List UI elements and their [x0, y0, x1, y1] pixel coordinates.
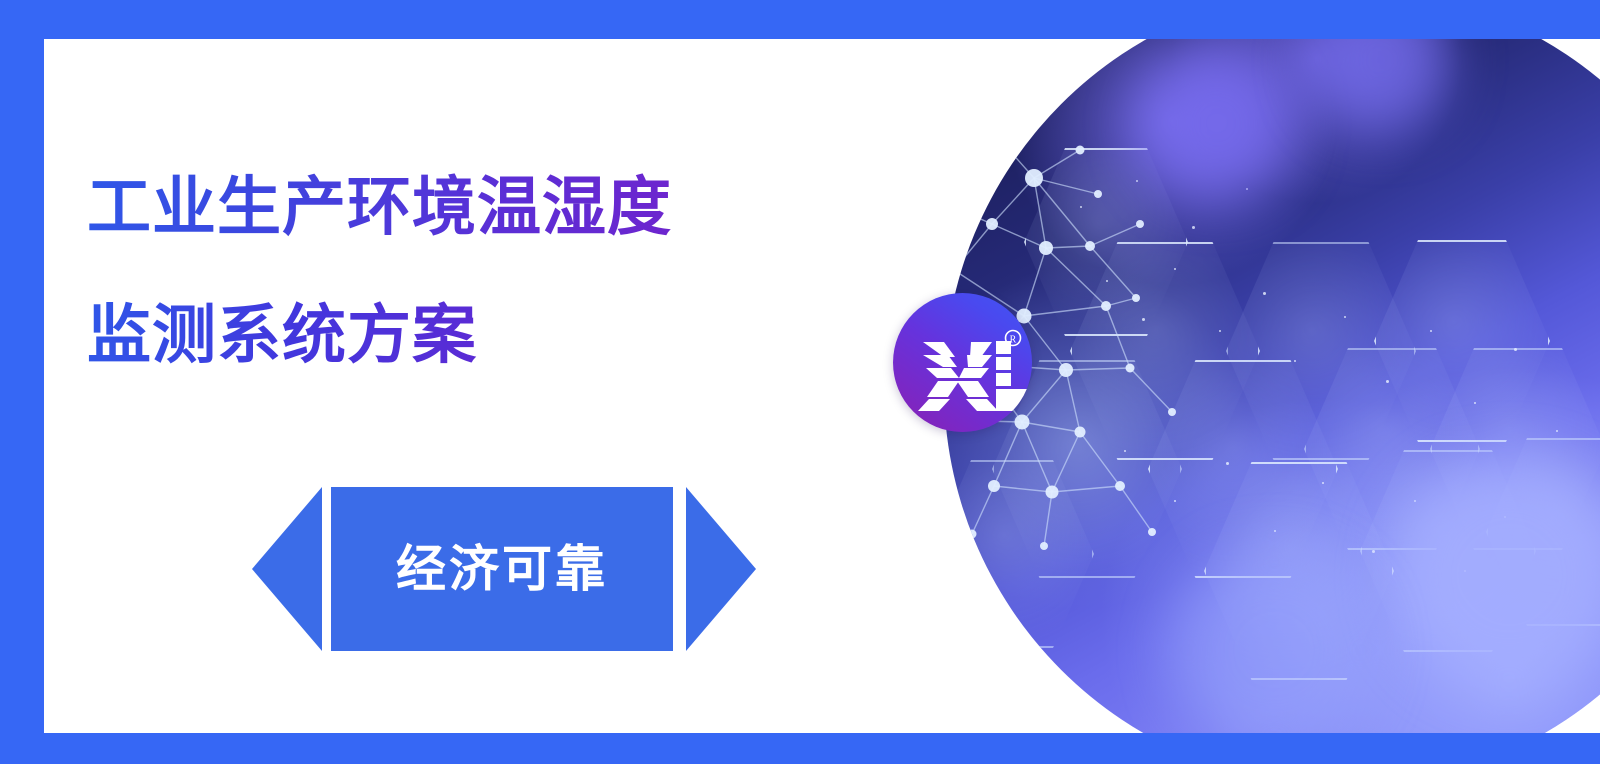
svg-text:R: R	[1010, 335, 1017, 346]
headline-line-2: 监测系统方案	[87, 271, 787, 399]
headline-block: 工业生产环境温湿度 监测系统方案	[87, 143, 787, 399]
ribbon-body: 经济可靠	[331, 487, 673, 651]
poster-card: 工业生产环境温湿度 监测系统方案 经济可靠	[44, 39, 1600, 733]
poster-canvas: 工业生产环境温湿度 监测系统方案 经济可靠	[0, 0, 1600, 764]
ribbon-left-arrow-icon	[252, 487, 322, 651]
registered-trademark-icon: R	[1006, 331, 1021, 346]
ribbon-label: 经济可靠	[396, 544, 608, 594]
headline-line-1: 工业生产环境温湿度	[87, 143, 787, 271]
xl-logo-mark: R	[893, 293, 1032, 432]
xl-logo: R	[893, 293, 1032, 432]
tagline-ribbon: 经济可靠	[252, 487, 756, 651]
ribbon-right-arrow-icon	[686, 487, 756, 651]
